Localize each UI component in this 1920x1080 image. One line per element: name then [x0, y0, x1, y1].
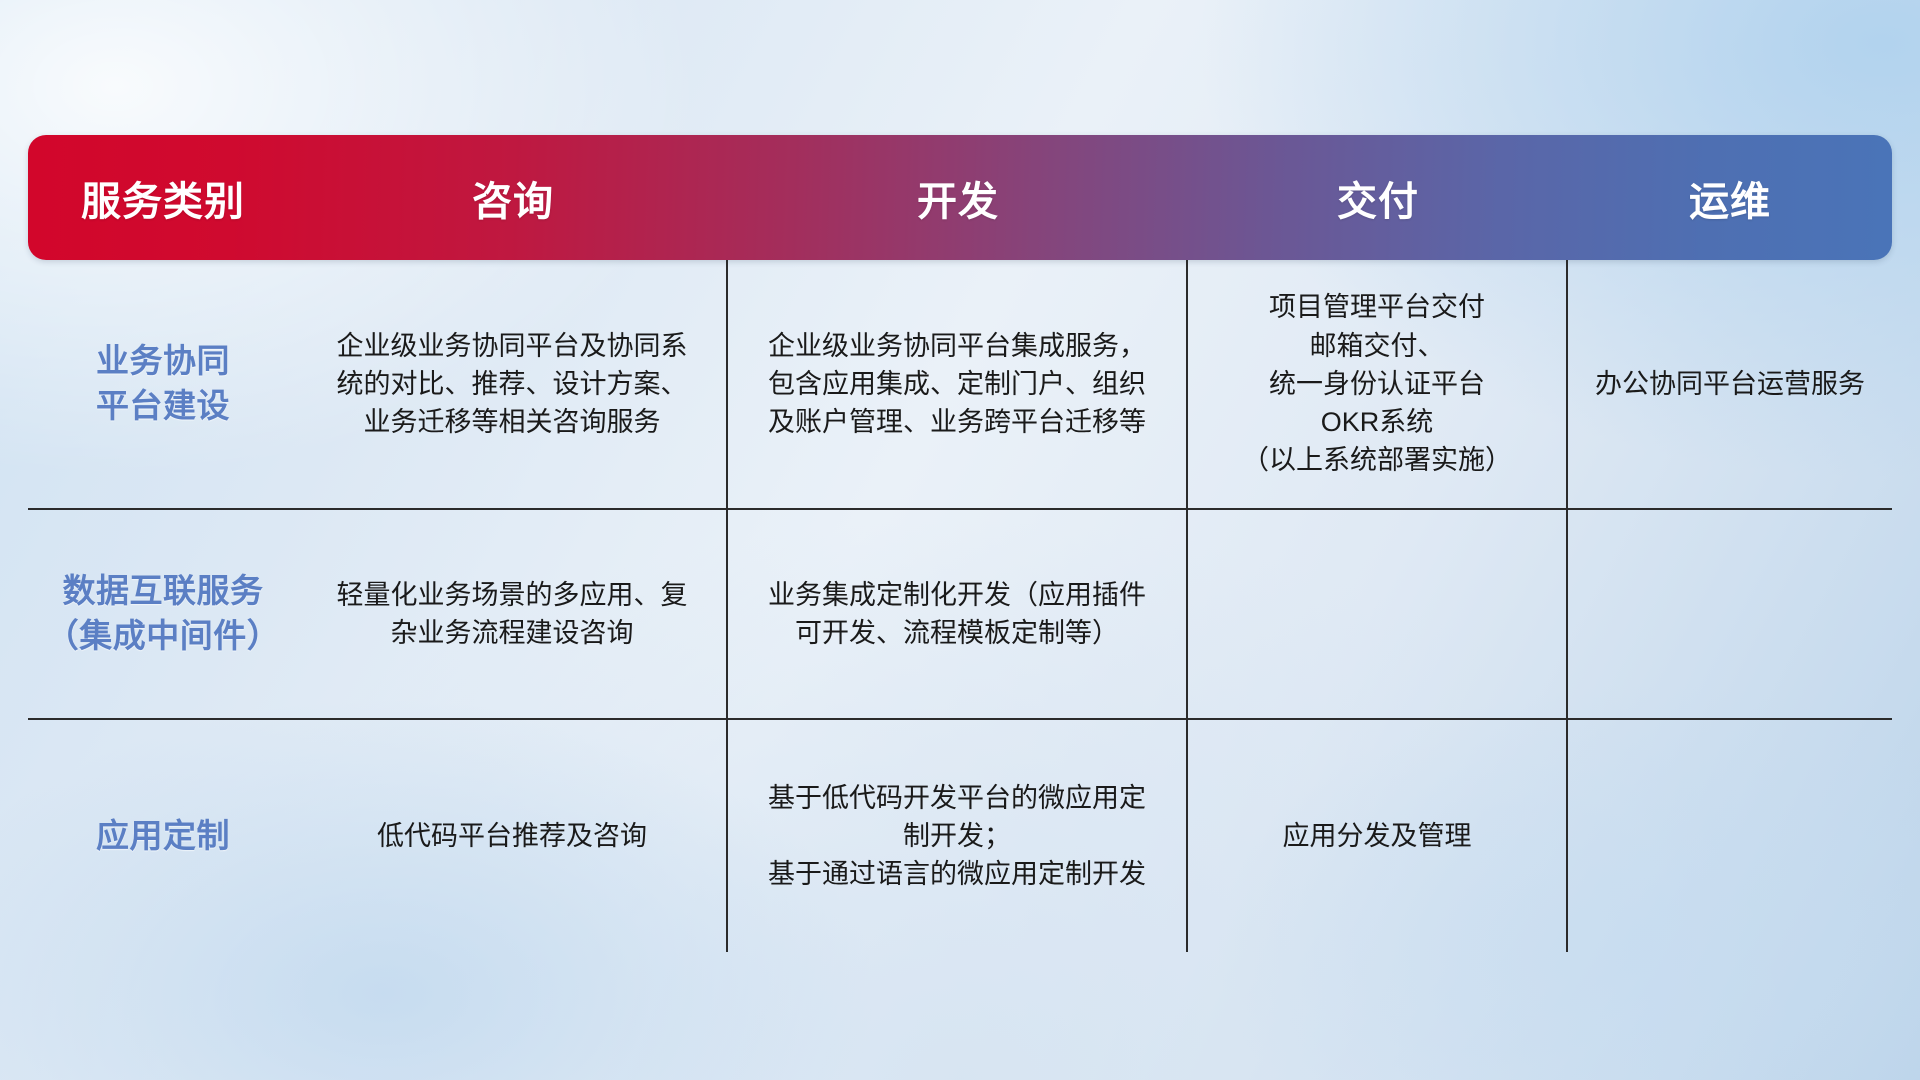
cell-consulting: 企业级业务协同平台及协同系 统的对比、推荐、设计方案、 业务迁移等相关咨询服务: [298, 260, 728, 508]
row-category-label: 业务协同 平台建设: [28, 260, 298, 508]
cell-operations: [1568, 720, 1892, 952]
table-header-row: 服务类别 咨询 开发 交付 运维: [28, 135, 1892, 260]
table-row: 数据互联服务 （集成中间件） 轻量化业务场景的多应用、复 杂业务流程建设咨询 业…: [28, 510, 1892, 720]
row-category-text: 数据互联服务 （集成中间件）: [46, 569, 281, 658]
header-operations: 运维: [1568, 135, 1892, 260]
cell-development: 基于低代码开发平台的微应用定 制开发； 基于通过语言的微应用定制开发: [728, 720, 1188, 952]
row-category-text: 应用定制: [96, 814, 230, 859]
header-service-category: 服务类别: [28, 135, 298, 260]
cell-operations: [1568, 510, 1892, 718]
cell-consulting-text: 企业级业务协同平台及协同系 统的对比、推荐、设计方案、 业务迁移等相关咨询服务: [337, 327, 688, 442]
cell-development-text: 基于低代码开发平台的微应用定 制开发； 基于通过语言的微应用定制开发: [768, 779, 1146, 894]
table-row: 应用定制 低代码平台推荐及咨询 基于低代码开发平台的微应用定 制开发； 基于通过…: [28, 720, 1892, 952]
cell-delivery-text: 应用分发及管理: [1283, 817, 1472, 855]
service-matrix-table: 服务类别 咨询 开发 交付 运维 业务协同 平台建设: [28, 135, 1892, 955]
header-delivery: 交付: [1188, 135, 1568, 260]
header-operations-label: 运维: [1689, 169, 1771, 227]
cell-development: 业务集成定制化开发（应用插件 可开发、流程模板定制等）: [728, 510, 1188, 718]
header-delivery-label: 交付: [1337, 169, 1419, 227]
cell-operations: 办公协同平台运营服务: [1568, 260, 1892, 508]
cell-development-text: 业务集成定制化开发（应用插件 可开发、流程模板定制等）: [768, 576, 1146, 653]
cell-consulting-text: 轻量化业务场景的多应用、复 杂业务流程建设咨询: [337, 576, 688, 653]
row-category-label: 应用定制: [28, 720, 298, 952]
header-development-label: 开发: [917, 169, 999, 227]
header-consulting-label: 咨询: [472, 169, 554, 227]
cell-consulting: 轻量化业务场景的多应用、复 杂业务流程建设咨询: [298, 510, 728, 718]
row-category-text: 业务协同 平台建设: [96, 339, 230, 428]
cell-development-text: 企业级业务协同平台集成服务， 包含应用集成、定制门户、组织 及账户管理、业务跨平…: [768, 327, 1146, 442]
cell-delivery: 项目管理平台交付 邮箱交付、 统一身份认证平台 OKR系统 （以上系统部署实施）: [1188, 260, 1568, 508]
cell-operations-text: 办公协同平台运营服务: [1595, 365, 1865, 403]
slide-canvas: 服务类别 咨询 开发 交付 运维 业务协同 平台建设: [0, 0, 1920, 1080]
cell-delivery: [1188, 510, 1568, 718]
cell-development: 企业级业务协同平台集成服务， 包含应用集成、定制门户、组织 及账户管理、业务跨平…: [728, 260, 1188, 508]
table-body: 业务协同 平台建设 企业级业务协同平台及协同系 统的对比、推荐、设计方案、 业务…: [28, 260, 1892, 952]
cell-delivery-text: 项目管理平台交付 邮箱交付、 统一身份认证平台 OKR系统 （以上系统部署实施）: [1242, 288, 1512, 480]
cell-delivery: 应用分发及管理: [1188, 720, 1568, 952]
header-service-category-label: 服务类别: [81, 169, 245, 227]
cell-consulting: 低代码平台推荐及咨询: [298, 720, 728, 952]
header-consulting: 咨询: [298, 135, 728, 260]
row-category-label: 数据互联服务 （集成中间件）: [28, 510, 298, 718]
table-row: 业务协同 平台建设 企业级业务协同平台及协同系 统的对比、推荐、设计方案、 业务…: [28, 260, 1892, 510]
cell-consulting-text: 低代码平台推荐及咨询: [377, 817, 647, 855]
header-development: 开发: [728, 135, 1188, 260]
